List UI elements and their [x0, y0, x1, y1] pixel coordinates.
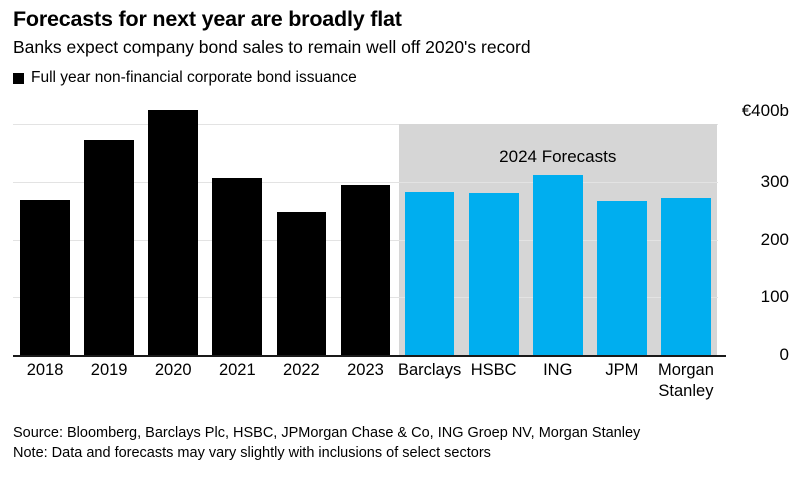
bar-morgan-stanley — [661, 198, 711, 355]
bar-2019 — [84, 140, 134, 355]
note-line: Note: Data and forecasts may vary slight… — [13, 444, 787, 464]
bar-barclays — [405, 192, 455, 355]
bar-2018 — [20, 200, 70, 355]
bar-2022 — [277, 212, 327, 355]
x-axis-labels: 201820192020202120222023BarclaysHSBCINGJ… — [13, 360, 718, 418]
chart-footer: Source: Bloomberg, Barclays Plc, HSBC, J… — [13, 424, 787, 463]
chart-legend: Full year non-financial corporate bond i… — [13, 69, 785, 87]
bar-2021 — [212, 178, 262, 355]
forecast-band-label: 2024 Forecasts — [399, 147, 717, 167]
legend-label: Full year non-financial corporate bond i… — [31, 69, 357, 87]
page-subtitle: Banks expect company bond sales to remai… — [13, 36, 785, 59]
source-line: Source: Bloomberg, Barclays Plc, HSBC, J… — [13, 424, 787, 444]
x-axis-line — [13, 355, 726, 357]
y-tick-label-400: €400b — [742, 102, 789, 119]
bar-hsbc — [469, 193, 519, 355]
chart-page: Forecasts for next year are broadly flat… — [0, 0, 795, 477]
bar-ing — [533, 175, 583, 355]
bar-jpm — [597, 201, 647, 355]
plot-area: 2024 Forecasts — [13, 124, 718, 355]
y-axis-labels: 0100200300€400b — [724, 0, 792, 477]
y-tick-label-100: 100 — [761, 288, 789, 305]
page-title: Forecasts for next year are broadly flat — [13, 6, 785, 32]
bar-2023 — [341, 185, 391, 355]
x-tick-label-morgan-stanley: MorganStanley — [644, 360, 729, 401]
legend-swatch-icon — [13, 73, 24, 84]
y-tick-label-0: 0 — [780, 346, 789, 363]
bar-2020 — [148, 110, 198, 355]
chart-header: Forecasts for next year are broadly flat… — [13, 6, 785, 87]
y-tick-label-200: 200 — [761, 231, 789, 248]
y-tick-label-300: 300 — [761, 173, 789, 190]
